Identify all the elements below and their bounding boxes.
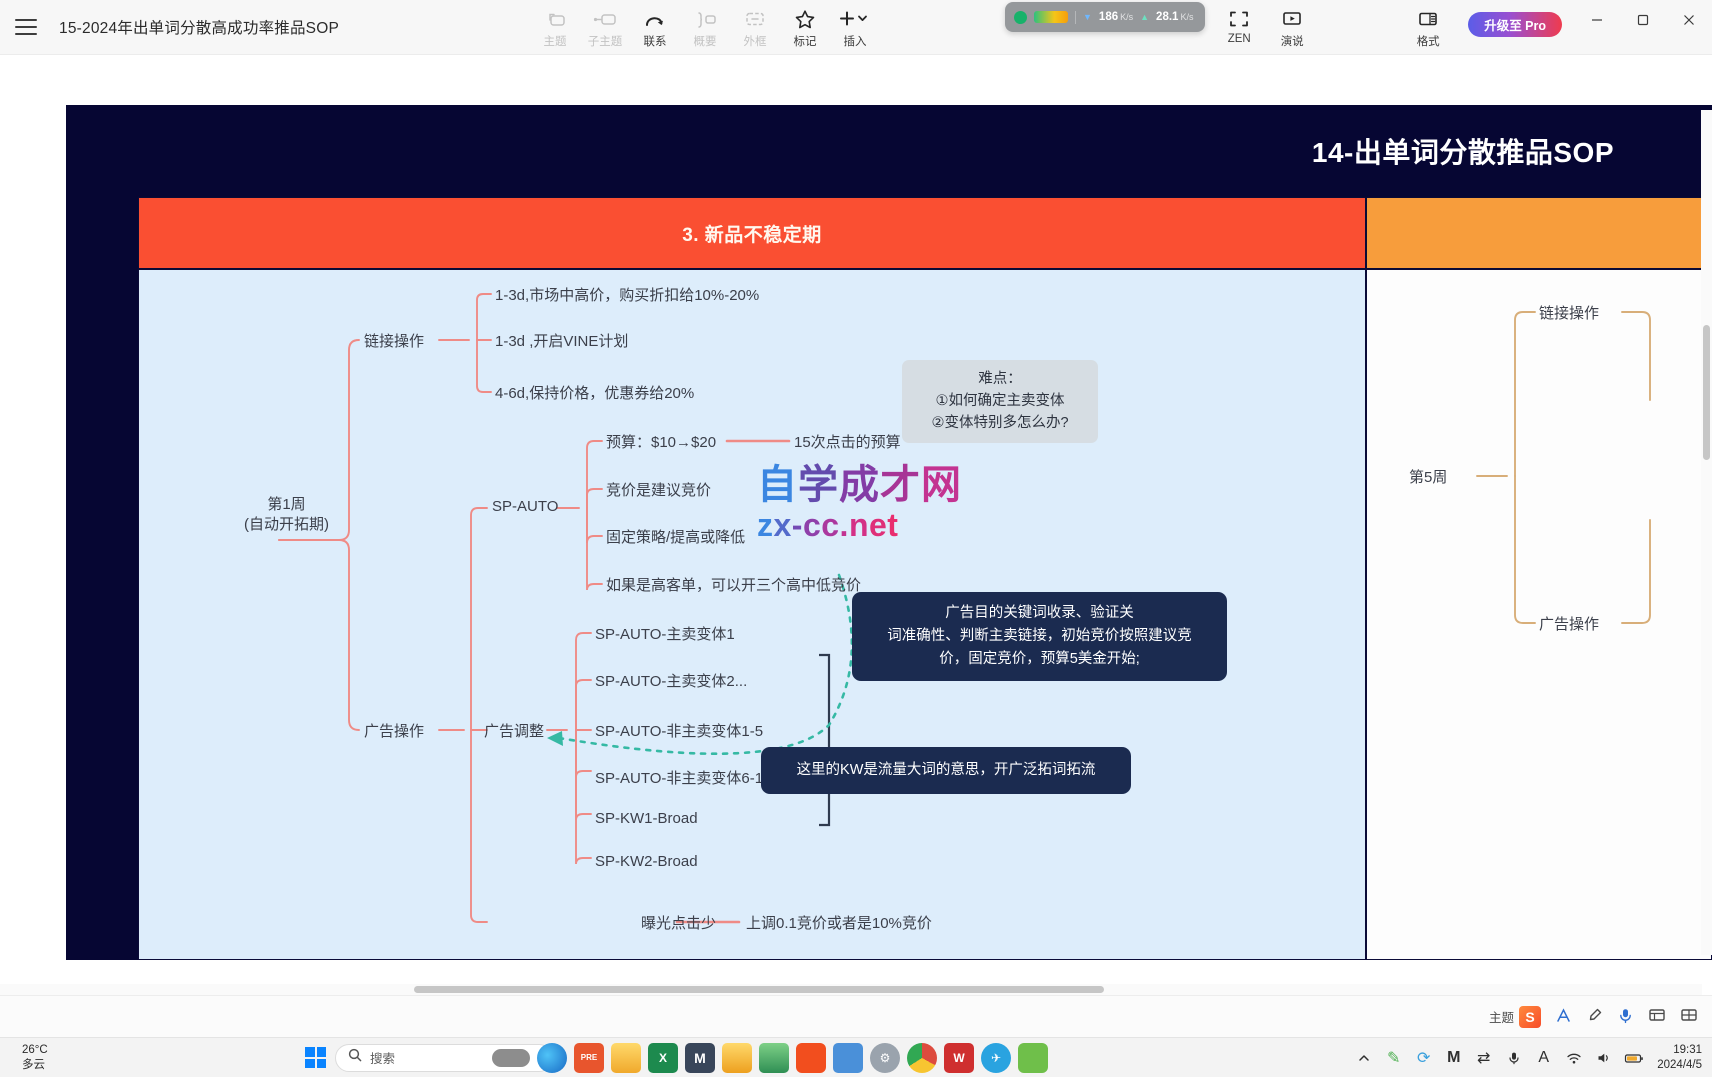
taskbar-app-puzzle[interactable] bbox=[1018, 1043, 1048, 1073]
toolbar-boundary-label: 外框 bbox=[744, 33, 767, 49]
wifi-icon[interactable] bbox=[1563, 1047, 1584, 1068]
input-method-icon[interactable]: A bbox=[1533, 1047, 1554, 1068]
transfer-icon[interactable]: ⇄ bbox=[1473, 1047, 1494, 1068]
upload-value: 28.1 bbox=[1156, 11, 1178, 23]
taskbar-app-maps[interactable] bbox=[759, 1043, 789, 1073]
zen-frame-icon bbox=[1228, 8, 1250, 30]
node-right-ad-ops[interactable]: 广告操作 bbox=[1539, 613, 1599, 634]
left-navy-column bbox=[66, 197, 138, 960]
taskbar-app-icons: PRE X M ⚙ W ✈ bbox=[492, 1043, 1048, 1073]
vertical-scrollbar[interactable] bbox=[1701, 110, 1712, 955]
volume-icon[interactable] bbox=[1593, 1047, 1614, 1068]
summary-icon bbox=[693, 8, 717, 30]
phase-header-row: 3. 新品不稳定期 bbox=[138, 197, 1712, 269]
status-brush-button[interactable] bbox=[1586, 1007, 1603, 1027]
horizontal-scroll-thumb[interactable] bbox=[414, 986, 1104, 993]
status-grid-button[interactable] bbox=[1680, 1007, 1698, 1027]
toolbar-topic-button[interactable]: 主题 bbox=[530, 3, 580, 49]
network-usage-bar bbox=[1034, 11, 1068, 23]
node-low-exposure[interactable]: 曝光点击少 bbox=[641, 912, 716, 933]
play-box-icon bbox=[1280, 8, 1304, 30]
xmind-tray-icon[interactable]: M bbox=[1443, 1047, 1464, 1068]
app-window: 15-2024年出单词分散高成功率推品SOP 主题 子主题 联系 bbox=[0, 0, 1712, 1077]
status-mic-button[interactable] bbox=[1617, 1007, 1634, 1027]
phase4-pane[interactable]: 第5周 链接操作 广告操作 bbox=[1366, 269, 1712, 960]
taskbar-app-camera[interactable] bbox=[833, 1043, 863, 1073]
node-link-child-2[interactable]: 1-3d ,开启VINE计划 bbox=[495, 330, 628, 351]
node-sp-auto-strategy[interactable]: 固定策略/提高或降低 bbox=[606, 526, 745, 547]
sogou-icon[interactable]: S bbox=[1519, 1006, 1541, 1028]
callout-difficulty[interactable]: 难点： ①如何确定主卖变体 ②变体特别多怎么办? bbox=[902, 360, 1098, 443]
download-value: 186 bbox=[1099, 11, 1118, 23]
weather-temp: 26°C bbox=[22, 1043, 48, 1057]
clock-date: 2024/4/5 bbox=[1657, 1058, 1702, 1073]
taskbar-clock[interactable]: 19:31 2024/4/5 bbox=[1657, 1043, 1702, 1072]
pen-icon[interactable]: ✎ bbox=[1383, 1047, 1404, 1068]
subtopic-icon bbox=[593, 8, 617, 30]
toolbar-summary-label: 概要 bbox=[694, 33, 717, 49]
mic-icon bbox=[1617, 1007, 1634, 1027]
taskbar-app-settings[interactable]: ⚙ bbox=[870, 1043, 900, 1073]
horizontal-scrollbar[interactable] bbox=[0, 984, 1702, 995]
toolbar-marker-button[interactable]: 标记 bbox=[780, 3, 830, 49]
toolbar-relation-button[interactable]: 联系 bbox=[630, 3, 680, 49]
taskbar-app-files[interactable] bbox=[722, 1043, 752, 1073]
node-week1-line2: (自动开拓期) bbox=[244, 516, 329, 533]
node-kw1-broad[interactable]: SP-KW1-Broad bbox=[595, 810, 698, 827]
toolbar-boundary-button[interactable]: 外框 bbox=[730, 3, 780, 49]
board-icon bbox=[1648, 1007, 1666, 1027]
node-ad-ops[interactable]: 广告操作 bbox=[364, 720, 424, 741]
taskbar-app-edge[interactable] bbox=[537, 1043, 567, 1073]
hamburger-icon[interactable] bbox=[15, 19, 37, 35]
upload-arrow-icon: ▲ bbox=[1140, 12, 1149, 22]
phase-cell-4[interactable] bbox=[1366, 197, 1712, 269]
close-icon[interactable] bbox=[1666, 3, 1712, 37]
taskbar-app-explorer[interactable] bbox=[611, 1043, 641, 1073]
node-week1-line1: 第1周 bbox=[267, 496, 305, 513]
sync-icon[interactable]: ⟳ bbox=[1413, 1047, 1434, 1068]
node-variant-4[interactable]: SP-AUTO-非主卖变体6-10... bbox=[595, 767, 784, 788]
node-week1[interactable]: 第1周 (自动开拓期) bbox=[244, 495, 329, 536]
toolbar-zen-button[interactable]: ZEN bbox=[1214, 3, 1264, 45]
callout-kw-note[interactable]: 这里的KW是流量大词的意思，开广泛拓词拓流 bbox=[761, 747, 1131, 794]
node-link-child-3[interactable]: 4-6d,保持价格，优惠券给20% bbox=[495, 382, 694, 403]
download-unit: K/s bbox=[1120, 12, 1133, 22]
network-speed-overlay[interactable]: ▼ 186 K/s ▲ 28.1 K/s bbox=[1005, 2, 1205, 32]
chevron-up-icon[interactable] bbox=[1353, 1047, 1374, 1068]
font-a-icon bbox=[1555, 1007, 1572, 1027]
node-ad-adjust[interactable]: 广告调整 bbox=[484, 720, 544, 741]
weather-desc: 多云 bbox=[22, 1058, 48, 1072]
toolbar-zen-label: ZEN bbox=[1228, 33, 1251, 45]
download-arrow-icon: ▼ bbox=[1083, 12, 1092, 22]
node-variant-3[interactable]: SP-AUTO-非主卖变体1-5 bbox=[595, 720, 763, 741]
window-controls bbox=[1574, 0, 1712, 40]
title-bar: 15-2024年出单词分散高成功率推品SOP 主题 子主题 联系 bbox=[0, 0, 1712, 55]
status-theme-label: 主题 bbox=[1489, 1007, 1514, 1026]
phase-label-3: 3. 新品不稳定期 bbox=[682, 220, 822, 247]
star-icon bbox=[794, 8, 816, 30]
toolbar-marker-label: 标记 bbox=[794, 33, 817, 49]
toolbar-relation-label: 联系 bbox=[644, 33, 667, 49]
watermark: 自学成才网 zx-cc.net bbox=[757, 465, 962, 545]
boundary-icon bbox=[744, 8, 766, 30]
taskbar-app-xmind[interactable]: M bbox=[685, 1043, 715, 1073]
toolbar-right-group: ZEN 演说 格式 升级至 Pro bbox=[1214, 0, 1712, 55]
taskbar: 26°C 多云 搜索 PRE X M ⚙ W bbox=[0, 1037, 1712, 1077]
upload-unit: K/s bbox=[1180, 12, 1193, 22]
status-bar: 主题 S bbox=[0, 995, 1712, 1037]
windows-start-icon[interactable] bbox=[305, 1047, 326, 1068]
format-panel-icon bbox=[1416, 8, 1440, 30]
sheet-banner: 14-出单词分散推品SOP bbox=[66, 105, 1712, 197]
toolbar-subtopic-button[interactable]: 子主题 bbox=[580, 3, 630, 49]
node-link-ops[interactable]: 链接操作 bbox=[364, 330, 424, 351]
upgrade-pro-button[interactable]: 升级至 Pro bbox=[1468, 12, 1562, 37]
relation-icon bbox=[643, 8, 667, 30]
node-variant-2[interactable]: SP-AUTO-主卖变体2... bbox=[595, 670, 747, 691]
toolbar-pitch-button[interactable]: 演说 bbox=[1264, 3, 1320, 49]
node-kw2-broad[interactable]: SP-KW2-Broad bbox=[595, 853, 698, 870]
toolbar-tools: 主题 子主题 联系 概要 bbox=[530, 3, 880, 49]
network-status-dot bbox=[1014, 11, 1027, 24]
upgrade-pro-label: 升级至 Pro bbox=[1484, 15, 1546, 34]
vertical-scroll-thumb[interactable] bbox=[1703, 325, 1710, 460]
taskbar-app-widgets[interactable] bbox=[492, 1049, 530, 1067]
toolbar-format-button[interactable]: 格式 bbox=[1388, 3, 1468, 49]
clock-time: 19:31 bbox=[1673, 1043, 1702, 1058]
grid-icon bbox=[1680, 1007, 1698, 1027]
watermark-line2: zx-cc.net bbox=[757, 505, 962, 545]
download-speed: 186 K/s bbox=[1099, 11, 1133, 23]
maximize-icon[interactable] bbox=[1620, 3, 1666, 37]
toolbar-format-label: 格式 bbox=[1417, 33, 1440, 49]
toolbar-topic-label: 主题 bbox=[544, 33, 567, 49]
taskbar-app-flame[interactable] bbox=[796, 1043, 826, 1073]
node-sp-auto-highprice[interactable]: 如果是高客单，可以开三个高中低竞价 bbox=[606, 574, 861, 595]
document-title: 15-2024年出单词分散高成功率推品SOP bbox=[59, 16, 339, 38]
taskbar-app-wps[interactable]: W bbox=[944, 1043, 974, 1073]
node-raise-bid[interactable]: 上调0.1竞价或者是10%竞价 bbox=[746, 912, 932, 933]
taskbar-weather[interactable]: 26°C 多云 bbox=[22, 1043, 48, 1072]
toolbar-subtopic-label: 子主题 bbox=[588, 33, 623, 49]
node-week5[interactable]: 第5周 bbox=[1409, 466, 1447, 487]
taskbar-app-excel[interactable]: X bbox=[648, 1043, 678, 1073]
status-board-button[interactable] bbox=[1648, 1007, 1666, 1027]
mic-tray-icon[interactable] bbox=[1503, 1047, 1524, 1068]
node-variant-1[interactable]: SP-AUTO-主卖变体1 bbox=[595, 623, 735, 644]
toolbar-pitch-label: 演说 bbox=[1281, 33, 1304, 49]
battery-icon[interactable] bbox=[1623, 1047, 1644, 1068]
topic-icon bbox=[545, 8, 566, 30]
node-sp-auto-budget[interactable]: 预算：$10→$20 bbox=[606, 431, 716, 452]
search-icon bbox=[348, 1048, 362, 1067]
plus-chevron-icon bbox=[838, 8, 872, 30]
node-budget-note[interactable]: 15次点击的预算 bbox=[794, 431, 901, 452]
node-right-link-ops[interactable]: 链接操作 bbox=[1539, 302, 1599, 323]
node-sp-auto-bid[interactable]: 竞价是建议竞价 bbox=[606, 479, 711, 500]
mindmap-canvas[interactable]: 14-出单词分散推品SOP 3. 新品不稳定期 bbox=[0, 55, 1712, 995]
brush-icon bbox=[1586, 1007, 1603, 1027]
taskbar-app-chrome[interactable] bbox=[907, 1043, 937, 1073]
taskbar-app-telegram[interactable]: ✈ bbox=[981, 1043, 1011, 1073]
taskbar-app-pre[interactable]: PRE bbox=[574, 1043, 604, 1073]
toolbar-insert-label: 插入 bbox=[844, 33, 867, 49]
node-sp-auto[interactable]: SP-AUTO bbox=[492, 498, 558, 515]
taskbar-tray: ✎ ⟳ M ⇄ A 19:31 2024/4/5 bbox=[1353, 1043, 1712, 1072]
status-font-button[interactable] bbox=[1555, 1007, 1572, 1027]
status-theme-button[interactable]: 主题 S bbox=[1489, 1006, 1541, 1028]
phase3-pane[interactable]: 第1周 (自动开拓期) 链接操作 1-3d,市场中高价，购买折扣给10%-20%… bbox=[138, 269, 1366, 960]
callout-ad-purpose[interactable]: 广告目的关键词收录、验证关 词准确性、判断主卖链接，初始竞价按照建议竞 价，固定… bbox=[852, 592, 1227, 681]
toolbar-summary-button[interactable]: 概要 bbox=[680, 3, 730, 49]
node-link-child-1[interactable]: 1-3d,市场中高价，购买折扣给10%-20% bbox=[495, 284, 759, 305]
divider bbox=[1075, 11, 1076, 24]
minimize-icon[interactable] bbox=[1574, 3, 1620, 37]
sheet-banner-title: 14-出单词分散推品SOP bbox=[1312, 131, 1614, 171]
mindmap-sheet: 14-出单词分散推品SOP 3. 新品不稳定期 bbox=[66, 105, 1712, 960]
phase-cell-3[interactable]: 3. 新品不稳定期 bbox=[138, 197, 1366, 269]
search-placeholder: 搜索 bbox=[370, 1048, 395, 1067]
toolbar-insert-button[interactable]: 插入 bbox=[830, 3, 880, 49]
upload-speed: 28.1 K/s bbox=[1156, 11, 1193, 23]
watermark-line1: 自学成才网 bbox=[757, 465, 962, 505]
